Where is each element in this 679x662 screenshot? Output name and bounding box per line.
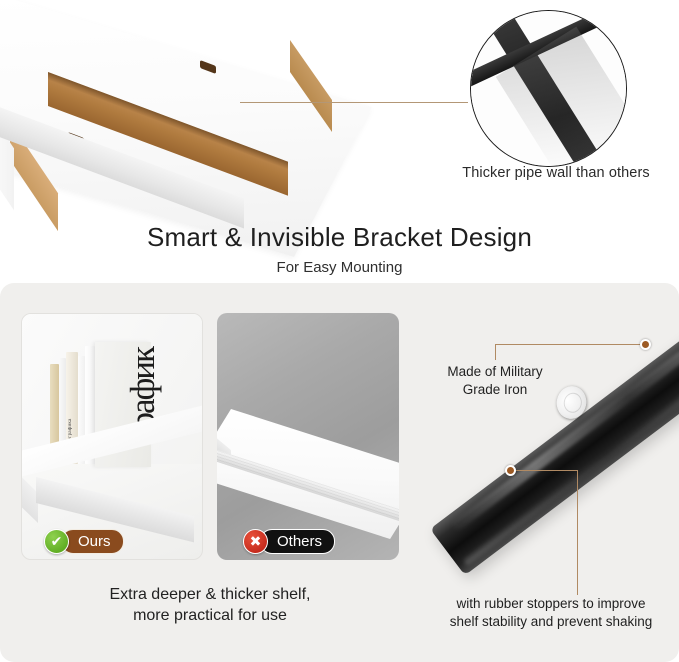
- callout-military-grade-iron: Made of Military Grade Iron: [430, 363, 560, 399]
- cross-icon: ✖: [243, 529, 268, 554]
- magnifier-background: [471, 11, 626, 166]
- comparison-cards: БОЛЬШАЯ КНИГА типографика график: [21, 313, 399, 560]
- thicker-pipe-caption: Thicker pipe wall than others: [436, 165, 676, 181]
- comparison-caption-line-1: Extra deeper & thicker shelf,: [18, 584, 402, 605]
- callout-top-leader-horizontal: [495, 344, 643, 345]
- card-others[interactable]: [217, 313, 399, 560]
- comparison-caption: Extra deeper & thicker shelf, more pract…: [18, 584, 402, 626]
- pipe-cross-section-magnifier: [470, 10, 627, 167]
- comparison-caption-line-2: more practical for use: [18, 605, 402, 626]
- callout-rubber-stoppers: with rubber stoppers to improve shelf st…: [425, 595, 677, 631]
- product-feature-image: Thicker pipe wall than others Smart & In…: [0, 0, 679, 662]
- page-subtitle: For Easy Mounting: [0, 259, 679, 276]
- callout-bottom-line-1: with rubber stoppers to improve: [425, 595, 677, 613]
- callout-bottom-leader-vertical: [577, 470, 578, 595]
- callout-bottom-dot-icon: [505, 465, 516, 476]
- callout-top-line-2: Grade Iron: [430, 381, 560, 399]
- callout-top-dot-icon: [640, 339, 651, 350]
- callout-bottom-line-2: shelf stability and prevent shaking: [425, 613, 677, 631]
- top-section: Thicker pipe wall than others: [0, 0, 679, 210]
- badge-ours-label: Ours: [61, 529, 124, 554]
- card-ours[interactable]: БОЛЬШАЯ КНИГА типографика график: [21, 313, 203, 560]
- callout-bottom-leader-horizontal: [514, 470, 578, 471]
- badge-others-label: Others: [260, 529, 335, 554]
- badge-others: ✖ Others: [243, 529, 335, 553]
- page-title: Smart & Invisible Bracket Design: [0, 222, 679, 253]
- floating-shelf-product-photo: [0, 2, 390, 192]
- badge-ours: ✔ Ours: [44, 529, 124, 553]
- others-shelf-top: [217, 409, 399, 539]
- magnifier-leader-line: [240, 102, 468, 103]
- iron-pipe-section: Made of Military Grade Iron with rubber …: [400, 283, 679, 662]
- book-spine-text: типографика: [68, 365, 73, 449]
- callout-top-leader-vertical: [495, 344, 496, 360]
- callout-top-line-1: Made of Military: [430, 363, 560, 381]
- check-icon: ✔: [44, 529, 69, 554]
